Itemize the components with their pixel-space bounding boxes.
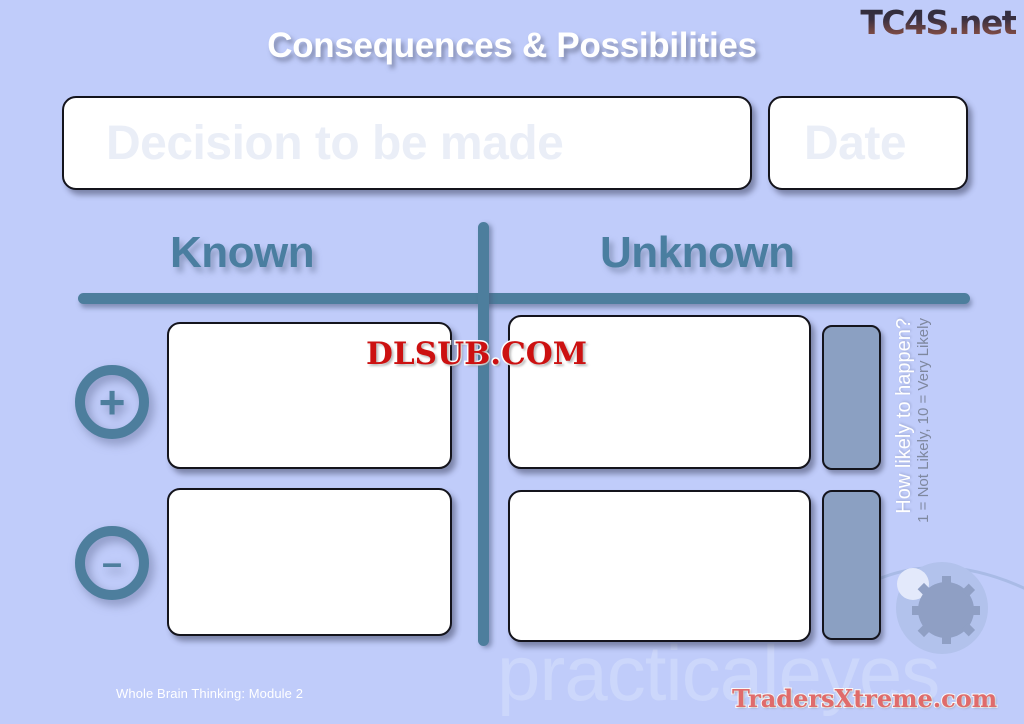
minus-icon: – <box>75 526 149 600</box>
minus-glyph: – <box>85 536 139 590</box>
date-placeholder: Date <box>804 116 906 171</box>
plus-glyph: + <box>85 375 139 429</box>
cell-unknown-negative[interactable] <box>508 490 811 642</box>
date-input[interactable]: Date <box>768 96 968 190</box>
plus-icon: + <box>75 365 149 439</box>
decision-input[interactable]: Decision to be made <box>62 96 752 190</box>
tradersxtreme-watermark: TradersXtreme.com <box>732 684 997 713</box>
column-header-known: Known <box>170 228 314 278</box>
vertical-divider <box>478 222 489 646</box>
brand-logo: TC4S.net <box>860 3 1016 42</box>
dlsub-watermark: DLSUB.COM <box>366 336 587 372</box>
legend-question: How likely to happen? <box>894 318 914 514</box>
worksheet-page: practicaleyes Consequences & Possibiliti… <box>0 0 1024 724</box>
cell-known-negative[interactable] <box>167 488 452 636</box>
horizontal-divider <box>78 293 970 304</box>
footer-note: Whole Brain Thinking: Module 2 <box>116 686 303 701</box>
score-input-negative[interactable] <box>822 490 881 640</box>
score-input-positive[interactable] <box>822 325 881 470</box>
legend-scale: 1 = Not Likely, 10 = Very Likely <box>916 318 931 523</box>
decision-placeholder: Decision to be made <box>106 116 563 171</box>
column-header-unknown: Unknown <box>600 228 794 278</box>
eye-gear-watermark <box>880 548 1024 698</box>
likelihood-legend: How likely to happen? 1 = Not Likely, 10… <box>884 318 931 568</box>
